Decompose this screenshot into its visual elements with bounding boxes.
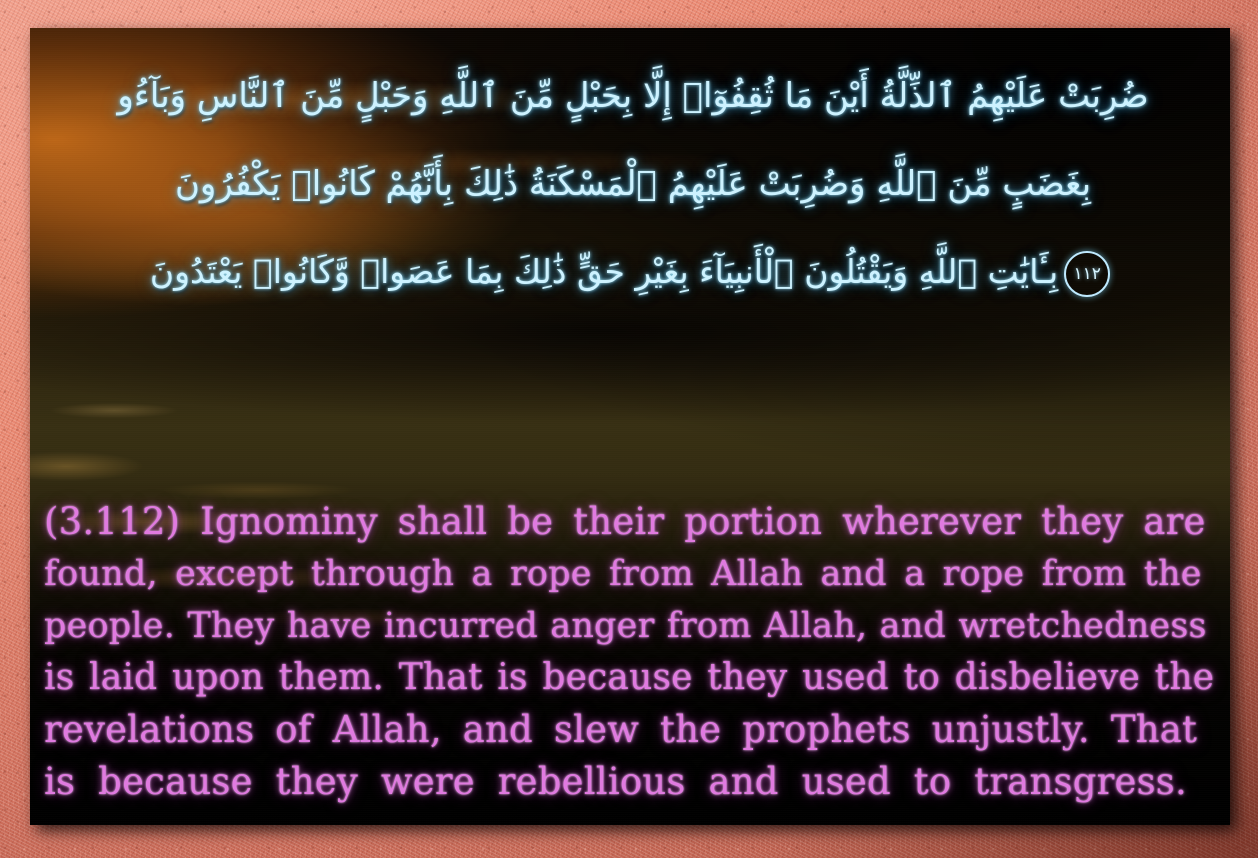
arabic-line-2: بِغَضَبٍ مِّنَ ٱللَّهِ وَضُرِبَتْ عَلَيْ… (52, 140, 1214, 228)
arabic-line-3-text: بِـَٔايَٰتِ ٱللَّهِ وَيَقْتُلُونَ ٱلْأَن… (150, 252, 1058, 291)
photo-panel: ضُرِبَتْ عَلَيْهِمُ ٱلذِّلَّةُ أَيْنَ مَ… (30, 28, 1230, 825)
english-line-6: is because they were rebellious and used… (44, 756, 1216, 808)
english-line-1: (3.112) Ignominy shall be their portion … (44, 496, 1216, 548)
ayah-number-ornament: ١١٢ (1064, 251, 1110, 297)
english-line-3: people. They have incurred anger from Al… (44, 600, 1216, 652)
arabic-verse-block: ضُرِبَتْ عَلَيْهِمُ ٱلذِّلَّةُ أَيْنَ مَ… (52, 52, 1214, 316)
arabic-line-1: ضُرِبَتْ عَلَيْهِمُ ٱلذِّلَّةُ أَيْنَ مَ… (52, 52, 1214, 140)
english-line-4: is laid upon them. That is because they … (44, 652, 1216, 704)
arabic-line-3: ١١٢بِـَٔايَٰتِ ٱللَّهِ وَيَقْتُلُونَ ٱلْ… (52, 228, 1214, 316)
english-line-2: found, except through a rope from Allah … (44, 548, 1216, 600)
english-line-5: revelations of Allah, and slew the proph… (44, 704, 1216, 756)
verse-card: ضُرِبَتْ عَلَيْهِمُ ٱلذِّلَّةُ أَيْنَ مَ… (0, 0, 1258, 858)
english-translation-block: (3.112) Ignominy shall be their portion … (44, 496, 1216, 808)
